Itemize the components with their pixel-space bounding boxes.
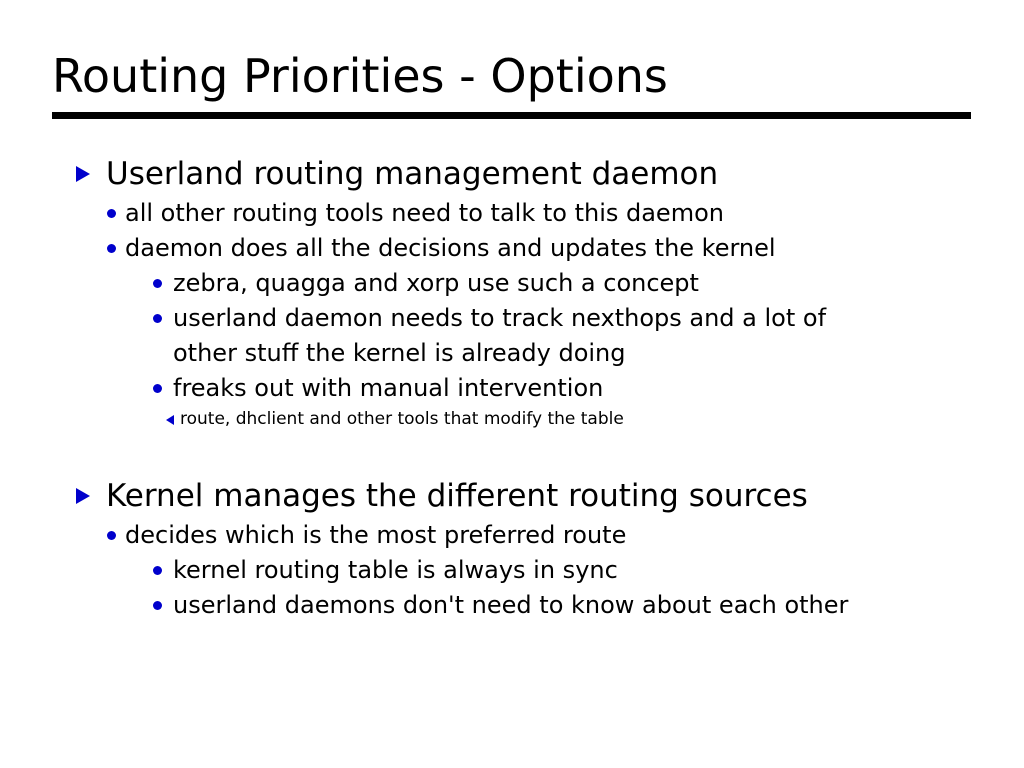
group-spacer (0, 432, 1024, 474)
bullet-level2-label: decides which is the most preferred rout… (125, 518, 1024, 553)
bullet-level3: userland daemon needs to track nexthops … (0, 301, 1024, 371)
page-title: Routing Priorities - Options (52, 48, 972, 104)
bullet-level3-label: userland daemons don't need to know abou… (173, 588, 885, 623)
title-underline-rule (52, 112, 971, 119)
dot-bullet-icon (107, 244, 116, 253)
bullet-level3-label: userland daemon needs to track nexthops … (173, 301, 885, 371)
outline-group-1: Userland routing management daemon all o… (0, 152, 1024, 432)
bullet-level2-label: daemon does all the decisions and update… (125, 231, 1024, 266)
dot-bullet-icon (153, 601, 162, 610)
bullet-level3: freaks out with manual intervention (0, 371, 1024, 406)
bullet-level4-label: route, dhclient and other tools that mod… (180, 406, 1024, 432)
bullet-level3-label: kernel routing table is always in sync (173, 553, 885, 588)
bullet-level3-label: freaks out with manual intervention (173, 371, 885, 406)
slide-body: Userland routing management daemon all o… (0, 152, 1024, 623)
bullet-level1-label: Userland routing management daemon (106, 152, 1024, 196)
dot-bullet-icon (153, 279, 162, 288)
slide-title-block: Routing Priorities - Options (52, 48, 972, 104)
right-triangle-bullet-icon (76, 488, 90, 504)
slide-canvas: Routing Priorities - Options Userland ro… (0, 0, 1024, 768)
bullet-level3: zebra, quagga and xorp use such a concep… (0, 266, 1024, 301)
bullet-level2-label: all other routing tools need to talk to … (125, 196, 1024, 231)
bullet-level1: Userland routing management daemon (0, 152, 1024, 196)
bullet-level2: daemon does all the decisions and update… (0, 231, 1024, 266)
right-triangle-bullet-icon (76, 166, 90, 182)
bullet-level1-label: Kernel manages the different routing sou… (106, 474, 1024, 518)
bullet-level3: kernel routing table is always in sync (0, 553, 1024, 588)
dot-bullet-icon (153, 314, 162, 323)
bullet-level1: Kernel manages the different routing sou… (0, 474, 1024, 518)
dot-bullet-icon (153, 384, 162, 393)
outline-group-2: Kernel manages the different routing sou… (0, 474, 1024, 623)
left-triangle-bullet-icon (166, 415, 174, 425)
bullet-level2: all other routing tools need to talk to … (0, 196, 1024, 231)
dot-bullet-icon (107, 209, 116, 218)
bullet-level3: userland daemons don't need to know abou… (0, 588, 1024, 623)
bullet-level4: route, dhclient and other tools that mod… (0, 406, 1024, 432)
dot-bullet-icon (153, 566, 162, 575)
bullet-level2: decides which is the most preferred rout… (0, 518, 1024, 553)
bullet-level3-label: zebra, quagga and xorp use such a concep… (173, 266, 885, 301)
dot-bullet-icon (107, 531, 116, 540)
